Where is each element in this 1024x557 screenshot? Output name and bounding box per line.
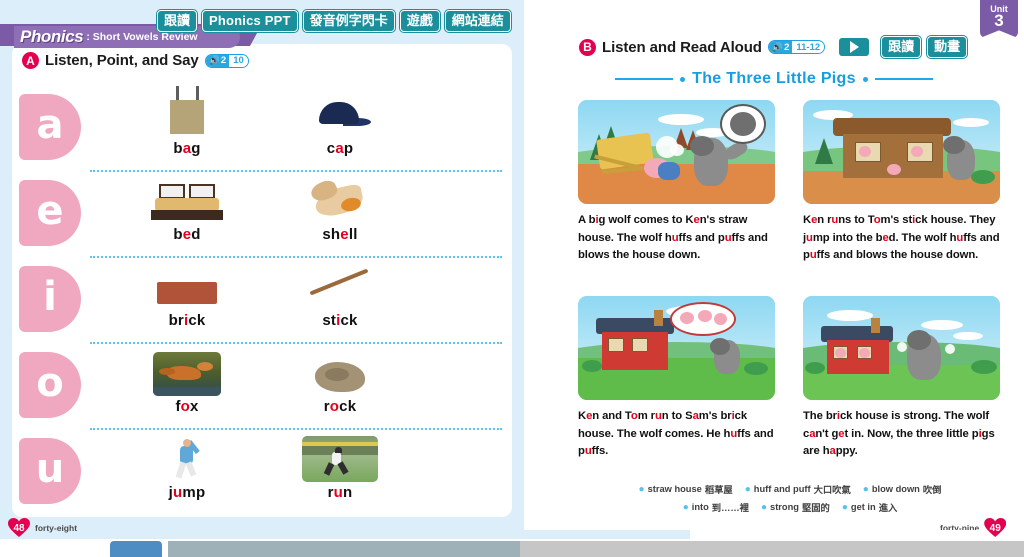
- word-card-run[interactable]: run: [265, 430, 415, 501]
- word-post: ck: [339, 398, 356, 415]
- page-number-left: 48 forty-eight: [8, 518, 77, 538]
- vocab-en: strong: [770, 502, 799, 512]
- word-card-stick[interactable]: stick: [265, 258, 415, 329]
- toolbar-button-read-along[interactable]: 跟讀: [157, 10, 197, 32]
- toolbar-button-phonics-ppt[interactable]: Phonics PPT: [202, 10, 298, 32]
- stick-image: [265, 258, 415, 310]
- vocab-item: ●blow down吹倒: [863, 482, 942, 496]
- word-post: ck: [188, 312, 205, 329]
- page-number-word-48: forty-eight: [35, 523, 77, 533]
- story-text-segment: ns to T: [838, 214, 874, 226]
- story-text-1: A big wolf comes to Ken's straw house. T…: [578, 212, 775, 265]
- story-panel-1[interactable]: A big wolf comes to Ken's straw house. T…: [578, 100, 775, 265]
- word-card-cap[interactable]: cap: [265, 86, 415, 157]
- vocab-item: ●straw house稻草屋: [639, 482, 733, 496]
- vowel-row-u: u jump: [12, 430, 512, 514]
- bullet-icon: ●: [745, 484, 751, 495]
- highlighted-vowel: o: [874, 214, 881, 226]
- word-vowel: o: [181, 398, 190, 415]
- section-b-header: B Listen and Read Aloud 🔊2 11-12 跟讀 動畫: [579, 36, 967, 58]
- toolbar-active-tab[interactable]: [110, 541, 162, 557]
- brick-image: [112, 258, 262, 310]
- story-text-segment: K: [803, 214, 811, 226]
- story-text-segment: t in. Now, the three little p: [844, 428, 978, 440]
- toolbar-button-pronunciation-flashcards[interactable]: 發音例字閃卡: [303, 10, 395, 32]
- story-text-segment: g wolf comes to K: [599, 214, 694, 226]
- word-card-brick[interactable]: brick: [112, 258, 262, 329]
- audio-badge-a-track: 🔊2: [206, 55, 230, 67]
- story-text-4: The brick house is strong. The wolf can'…: [803, 408, 1000, 461]
- animation-button[interactable]: 動畫: [927, 36, 967, 58]
- word-label-rock: rock: [265, 398, 415, 415]
- bed-image: [112, 172, 262, 224]
- bullet-icon: ●: [639, 484, 645, 495]
- story-text-2: Ken runs to Tom's stick house. They jump…: [803, 212, 1000, 265]
- vowel-tab-a-letter: a: [37, 105, 64, 145]
- read-along-button[interactable]: 跟讀: [881, 36, 921, 58]
- vocab-item: ●get in進入: [842, 500, 897, 514]
- play-icon: [850, 41, 859, 53]
- wolf-cannot-enter-brick-house-image: [803, 296, 1000, 400]
- story-text-segment: The br: [803, 410, 837, 422]
- vocab-zh: 到……裡: [712, 500, 749, 514]
- word-post: g: [191, 140, 200, 157]
- word-label-run: run: [265, 484, 415, 501]
- story-panel-4[interactable]: The brick house is strong. The wolf can'…: [803, 296, 1000, 461]
- vocabulary-line-2: ●into到……裡 ●strong堅固的 ●get in進入: [560, 500, 1020, 514]
- vocab-en: straw house: [648, 484, 702, 494]
- audio-badge-b-track: 🔊2: [769, 41, 793, 53]
- vowel-tab-e-letter: e: [36, 191, 63, 231]
- highlighted-vowel: u: [725, 232, 732, 244]
- bullet-icon: ●: [761, 502, 767, 513]
- vocab-zh: 稻草屋: [705, 482, 733, 496]
- word-post: mp: [182, 484, 205, 501]
- page-number-heart-48: 48: [8, 518, 30, 538]
- word-post: ll: [349, 226, 358, 243]
- rock-image: [265, 344, 415, 396]
- section-b-title: Listen and Read Aloud: [602, 39, 762, 56]
- play-button[interactable]: [839, 38, 869, 56]
- word-label-brick: brick: [112, 312, 262, 329]
- story-panel-3[interactable]: Ken and Tom run to Sam's brick house. Th…: [578, 296, 775, 461]
- highlighted-vowel: u: [672, 232, 679, 244]
- page-number-heart-49: 49: [984, 518, 1006, 538]
- word-label-cap: cap: [265, 140, 415, 157]
- left-content-card: a bag cap: [12, 44, 512, 517]
- story-text-segment: A b: [578, 214, 595, 226]
- highlighted-vowel: u: [810, 249, 817, 261]
- bullet-icon: ●: [683, 502, 689, 513]
- vocab-en: huff and puff: [754, 484, 811, 494]
- audio-badge-b[interactable]: 🔊2 11-12: [768, 40, 825, 54]
- word-label-fox: fox: [112, 398, 262, 415]
- vowel-tab-o[interactable]: o: [19, 352, 81, 418]
- story-text-segment: n and T: [592, 410, 631, 422]
- title-dot-right: [863, 77, 868, 82]
- toolbar-button-website-link[interactable]: 網站連結: [445, 10, 511, 32]
- word-post: n: [343, 484, 352, 501]
- story-text-segment: m's st: [881, 214, 913, 226]
- vowel-row-o: o fox rock: [12, 344, 512, 428]
- highlighted-vowel: u: [655, 410, 662, 422]
- seashell-image: [265, 172, 415, 224]
- word-card-shell[interactable]: shell: [265, 172, 415, 243]
- section-a-title: Listen, Point, and Say: [45, 52, 199, 69]
- word-post: x: [190, 398, 199, 415]
- word-card-rock[interactable]: rock: [265, 344, 415, 415]
- story-text-segment: ffs and p: [679, 232, 725, 244]
- word-card-fox[interactable]: fox: [112, 344, 262, 415]
- tote-bag-image: [112, 86, 262, 138]
- vocab-zh: 大口吹氣: [814, 482, 851, 496]
- word-post: d: [191, 226, 200, 243]
- highlighted-vowel: u: [585, 445, 592, 457]
- story-text-segment: n r: [817, 214, 831, 226]
- word-label-stick: stick: [265, 312, 415, 329]
- vocabulary-line-1: ●straw house稻草屋 ●huff and puff大口吹氣 ●blow…: [560, 482, 1020, 496]
- vowel-tab-i-letter: i: [43, 277, 57, 317]
- story-text-segment: m's br: [699, 410, 732, 422]
- phonics-title: Phonics: [20, 27, 83, 47]
- word-pre: b: [173, 226, 182, 243]
- story-text-segment: n to S: [662, 410, 693, 422]
- wolf-blows-straw-house-image: [578, 100, 775, 204]
- word-label-jump: jump: [112, 484, 262, 501]
- vocab-zh: 進入: [879, 500, 898, 514]
- story-title-bar: The Three Little Pigs: [524, 70, 1024, 88]
- audio-badge-a-items: 10: [229, 55, 248, 67]
- word-vowel: e: [340, 226, 349, 243]
- section-a-header: A Listen, Point, and Say 🔊2 10: [22, 52, 249, 69]
- word-vowel: u: [334, 484, 343, 501]
- bullet-icon: ●: [863, 484, 869, 495]
- top-toolbar: 跟讀 Phonics PPT 發音例字閃卡 遊戲 網站連結: [157, 10, 511, 32]
- bullet-icon: ●: [842, 502, 848, 513]
- title-dot-left: [680, 77, 685, 82]
- vocab-item: ●huff and puff大口吹氣: [745, 482, 851, 496]
- title-rule-left: [615, 78, 673, 80]
- story-text-segment: mp into the b: [813, 232, 883, 244]
- speaker-icon: 🔊: [209, 55, 220, 66]
- word-vowel: o: [330, 398, 339, 415]
- section-b-letter: B: [579, 39, 596, 56]
- vowel-tab-o-letter: o: [36, 363, 63, 403]
- running-person-image: [265, 430, 415, 482]
- word-card-bed[interactable]: bed: [112, 172, 262, 243]
- story-text-3: Ken and Tom run to Sam's brick house. Th…: [578, 408, 775, 461]
- word-label-bed: bed: [112, 226, 262, 243]
- vowel-tab-e[interactable]: e: [19, 180, 81, 246]
- unit-number: 3: [994, 14, 1003, 28]
- phonics-subtitle: : Short Vowels Review: [86, 31, 197, 44]
- vocab-item: ●strong堅固的: [761, 500, 830, 514]
- story-text-segment: ffs and blows the house down.: [817, 249, 979, 261]
- toolbar-light-band: [0, 530, 690, 539]
- toolbar-gray-band-2: [520, 541, 1024, 557]
- story-text-segment: ppy.: [836, 445, 858, 457]
- vowel-row-a: a bag cap: [12, 86, 512, 170]
- vocab-zh: 堅固的: [802, 500, 830, 514]
- word-card-jump[interactable]: jump: [112, 430, 262, 501]
- vowel-tab-u-letter: u: [36, 449, 64, 489]
- vowel-tab-a[interactable]: a: [19, 94, 81, 160]
- story-panel-2[interactable]: Ken runs to Tom's stick house. They jump…: [803, 100, 1000, 265]
- vocab-item: ●into到……裡: [683, 500, 749, 514]
- word-pre: b: [173, 140, 182, 157]
- textbook-page-spread: a bag cap: [0, 0, 1024, 557]
- audio-badge-a[interactable]: 🔊2 10: [205, 54, 249, 68]
- vowel-tab-u[interactable]: u: [19, 438, 81, 504]
- vowel-tab-i[interactable]: i: [19, 266, 81, 332]
- pigs-eating-in-brick-house-image: [578, 296, 775, 400]
- word-vowel: e: [183, 226, 192, 243]
- word-vowel: a: [183, 140, 192, 157]
- story-text-segment: K: [578, 410, 586, 422]
- unit-badge: Unit 3: [980, 0, 1018, 38]
- vocab-zh: 吹倒: [923, 482, 942, 496]
- title-rule-right: [875, 78, 933, 80]
- word-label-shell: shell: [265, 226, 415, 243]
- word-pre: st: [322, 312, 336, 329]
- vocab-en: blow down: [872, 484, 920, 494]
- baseball-cap-image: [265, 86, 415, 138]
- vocab-en: into: [692, 502, 709, 512]
- left-page: a bag cap: [0, 0, 524, 530]
- vowel-row-e: e bed shell: [12, 172, 512, 256]
- word-vowel: a: [335, 140, 344, 157]
- fox-image: [112, 344, 262, 396]
- pigs-in-stick-house-with-wolf-image: [803, 100, 1000, 204]
- word-post: p: [344, 140, 353, 157]
- toolbar-gray-band: [168, 541, 520, 557]
- story-text-segment: d. The wolf h: [889, 232, 957, 244]
- word-pre: sh: [322, 226, 340, 243]
- vocabulary-notes: ●straw house稻草屋 ●huff and puff大口吹氣 ●blow…: [560, 482, 1020, 514]
- word-card-bag[interactable]: bag: [112, 86, 262, 157]
- story-text-segment: n't g: [815, 428, 838, 440]
- jumping-person-image: [112, 430, 262, 482]
- vocab-en: get in: [851, 502, 876, 512]
- story-title: The Three Little Pigs: [692, 70, 856, 88]
- story-text-segment: m r: [638, 410, 655, 422]
- story-text-segment: ffs.: [592, 445, 609, 457]
- highlighted-vowel: u: [806, 232, 813, 244]
- word-label-bag: bag: [112, 140, 262, 157]
- audio-badge-b-items: 11-12: [792, 41, 824, 53]
- highlighted-vowel: o: [631, 410, 638, 422]
- word-pre: br: [169, 312, 184, 329]
- toolbar-button-games[interactable]: 遊戲: [400, 10, 440, 32]
- speaker-icon: 🔊: [772, 42, 783, 53]
- section-a-letter: A: [22, 52, 39, 69]
- word-post: ck: [341, 312, 358, 329]
- bottom-toolbar: [0, 530, 1024, 557]
- vowel-row-i: i brick stick: [12, 258, 512, 342]
